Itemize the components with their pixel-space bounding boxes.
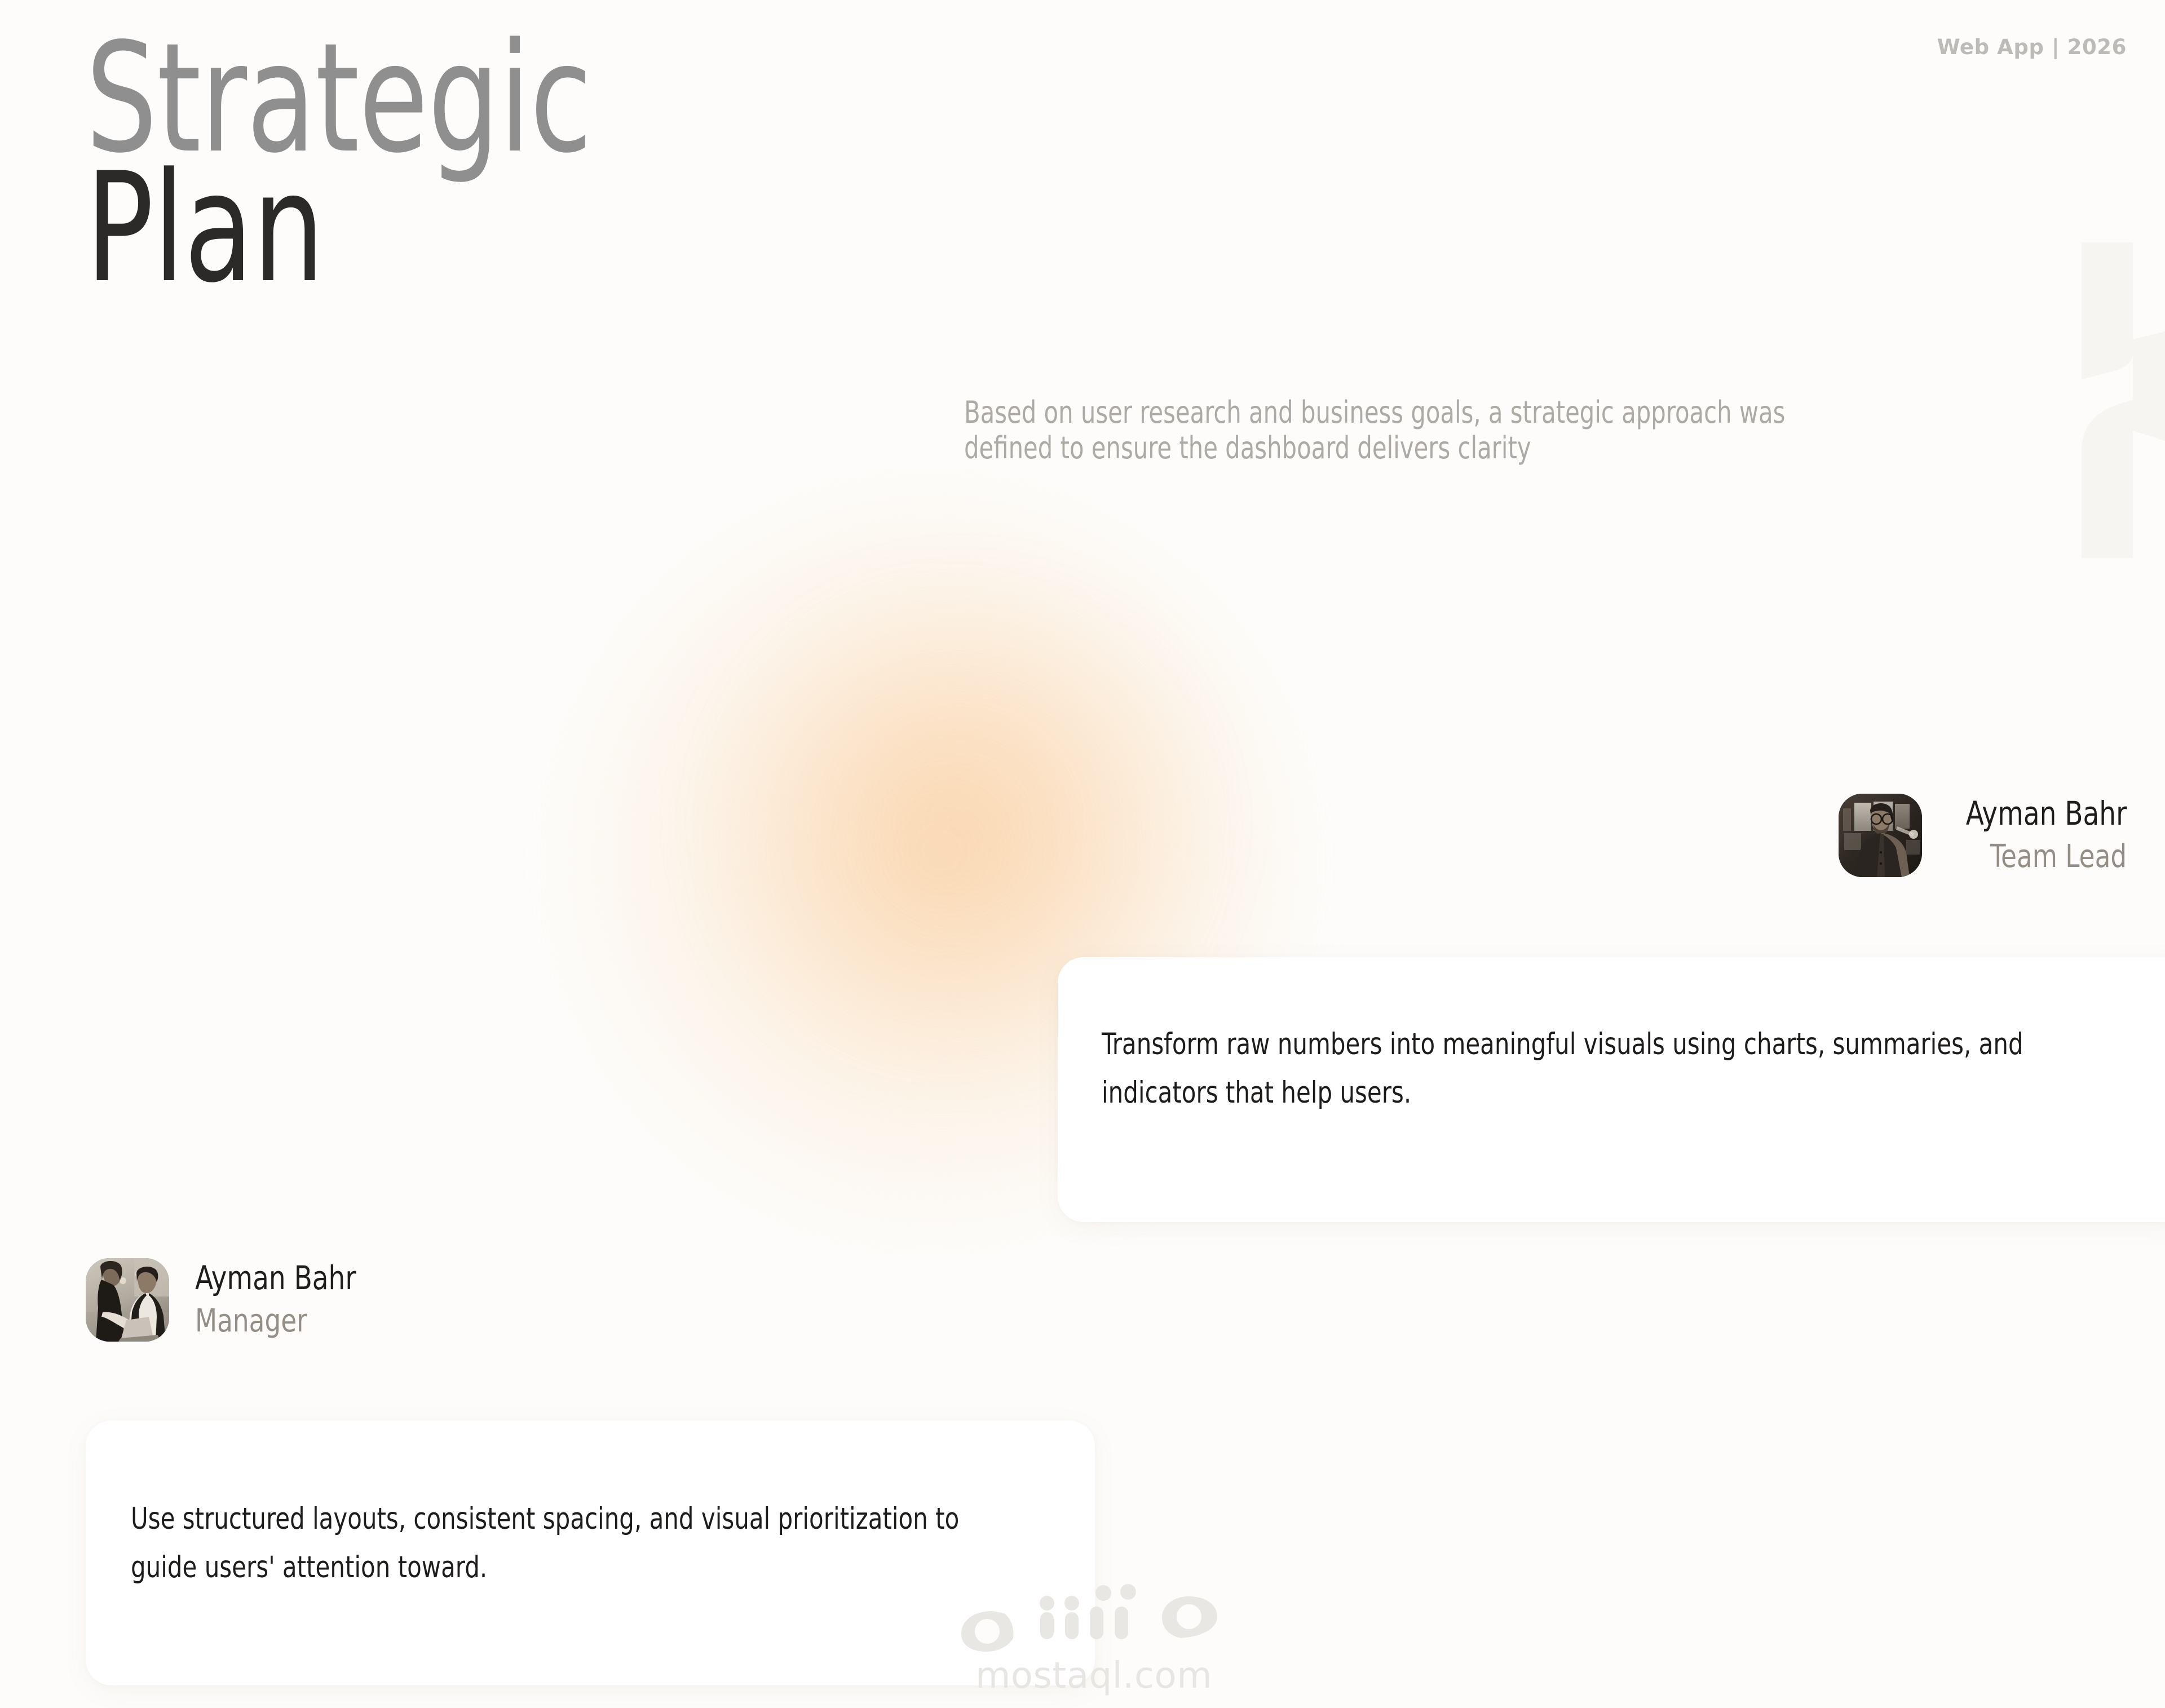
person-text-team-lead: Ayman Bahr Team Lead <box>1948 795 2127 875</box>
page-title-line-1: Strategic <box>86 44 834 154</box>
person-role: Manager <box>195 1302 356 1340</box>
message-bubble-text: Transform raw numbers into meaningful vi… <box>1102 1020 2044 1117</box>
avatar-photo-man-glasses-icon <box>1839 794 1922 877</box>
person-row-team-lead: Ayman Bahr Team Lead <box>1839 794 2127 877</box>
message-bubble-text: Use structured layouts, consistent spaci… <box>131 1495 999 1592</box>
page-subtitle: Based on user research and business goal… <box>964 395 1876 505</box>
page-title-line-2: Plan <box>86 174 834 284</box>
page-title: Strategic Plan <box>86 44 988 284</box>
avatar-photo-two-people-laptop-icon <box>86 1258 169 1342</box>
message-bubble-manager: Use structured layouts, consistent spaci… <box>86 1421 1095 1685</box>
person-role: Team Lead <box>1990 838 2127 875</box>
person-name: Ayman Bahr <box>195 1260 356 1297</box>
slide-canvas: Web App | 2026 Strategic Plan Based on u… <box>0 0 2165 1708</box>
message-bubble-team-lead: Transform raw numbers into meaningful vi… <box>1058 957 2165 1222</box>
person-text-manager: Ayman Bahr Manager <box>195 1260 374 1340</box>
abstract-chevron-mark-icon <box>2052 242 2165 558</box>
person-name: Ayman Bahr <box>1965 795 2127 832</box>
person-row-manager: Ayman Bahr Manager <box>86 1258 374 1342</box>
deck-meta-label: Web App | 2026 <box>1937 35 2127 59</box>
